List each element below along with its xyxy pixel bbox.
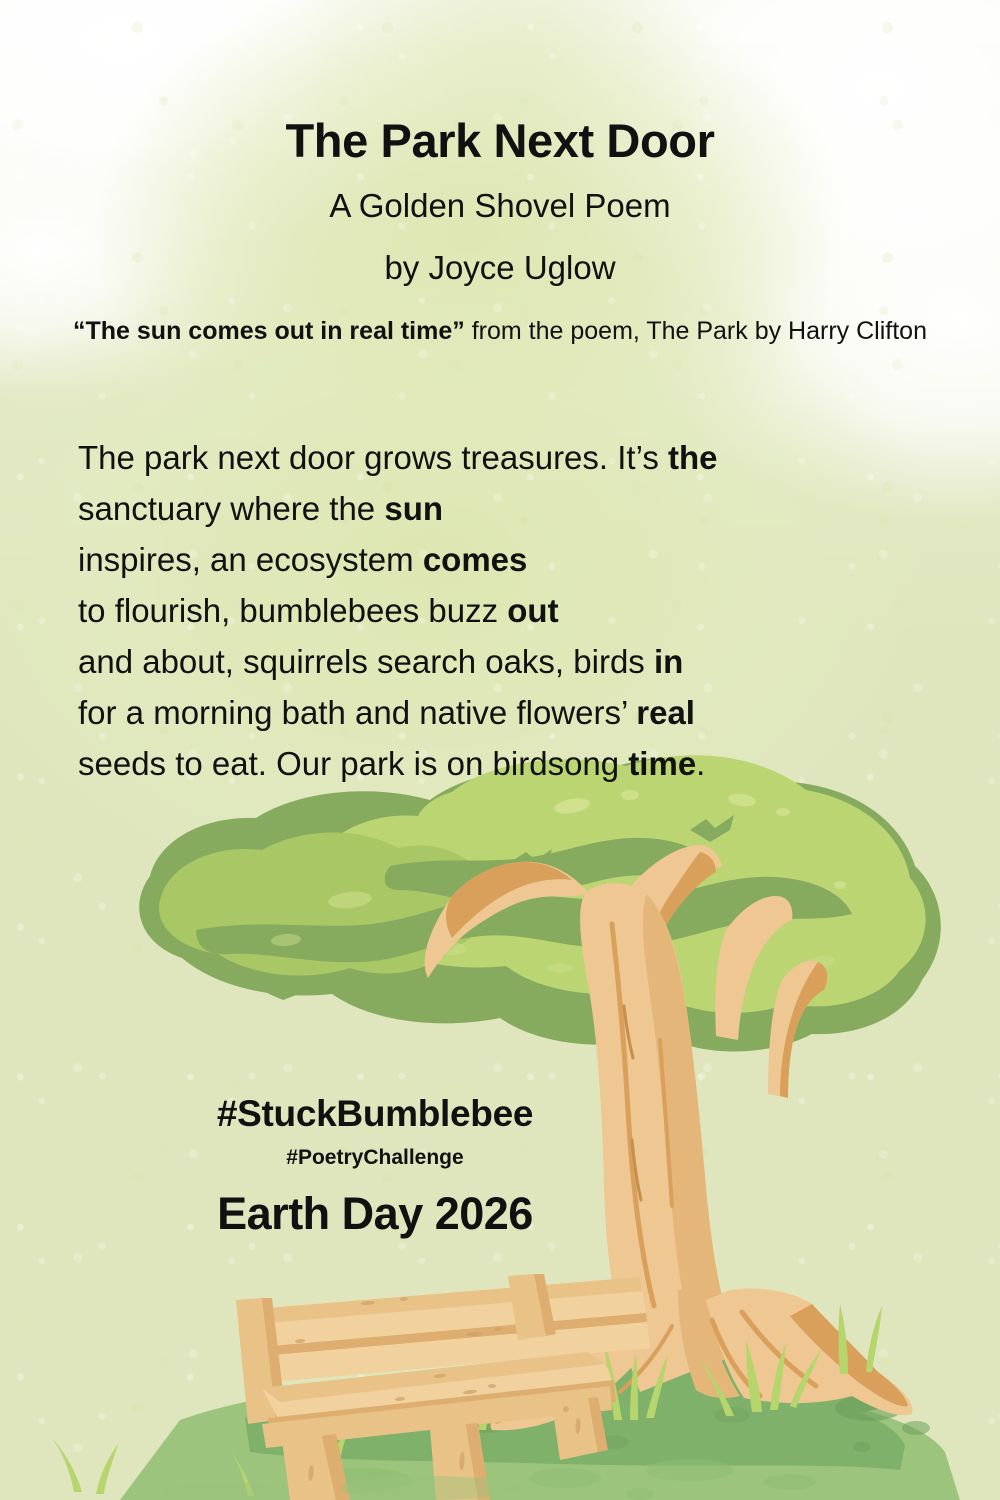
poem-strike-word: real: [636, 694, 695, 731]
poem-line-tail: .: [696, 745, 705, 782]
poem-strike-word: the: [668, 439, 718, 476]
poster-byline: by Joyce Uglow: [0, 248, 1000, 288]
source-attribution: “The sun comes out in real time” from th…: [55, 313, 945, 349]
poem-strike-word: in: [654, 643, 683, 680]
poem-line-text: for a morning bath and native flowers’: [78, 694, 636, 731]
poster-canvas: The Park Next Door A Golden Shovel Poem …: [0, 0, 1000, 1500]
event-label: Earth Day 2026: [100, 1188, 650, 1240]
poem-line: sanctuary where the sun: [78, 483, 948, 534]
poem-line-text: The park next door grows treasures. It’s: [78, 439, 668, 476]
poem-line: and about, squirrels search oaks, birds …: [78, 636, 948, 687]
poem-line-text: inspires, an ecosystem: [78, 541, 423, 578]
poem-body: The park next door grows treasures. It’s…: [78, 432, 948, 789]
poem-line: seeds to eat. Our park is on birdsong ti…: [78, 738, 948, 789]
poem-line-text: and about, squirrels search oaks, birds: [78, 643, 654, 680]
poem-line-text: to flourish, bumblebees buzz: [78, 592, 507, 629]
hashtag-primary: #StuckBumblebee: [100, 1093, 650, 1135]
source-quote: “The sun comes out in real time”: [73, 317, 465, 345]
poem-strike-word: sun: [384, 490, 443, 527]
poem-line: inspires, an ecosystem comes: [78, 534, 948, 585]
hashtag-secondary: #PoetryChallenge: [100, 1146, 650, 1170]
source-credit: from the poem, The Park by Harry Clifton: [465, 317, 927, 345]
poem-line-text: sanctuary where the: [78, 490, 384, 527]
poem-strike-word: out: [507, 592, 558, 629]
page-title: The Park Next Door: [0, 116, 1000, 167]
poster-text-layer: The Park Next Door A Golden Shovel Poem …: [0, 0, 1000, 1500]
poem-line-text: seeds to eat. Our park is on birdsong: [78, 745, 628, 782]
poster-subtitle: A Golden Shovel Poem: [0, 186, 1000, 226]
poem-strike-word: time: [628, 745, 696, 782]
poem-line: The park next door grows treasures. It’s…: [78, 432, 948, 483]
poem-line: for a morning bath and native flowers’ r…: [78, 687, 948, 738]
poem-line: to flourish, bumblebees buzz out: [78, 585, 948, 636]
poem-strike-word: comes: [423, 541, 528, 578]
